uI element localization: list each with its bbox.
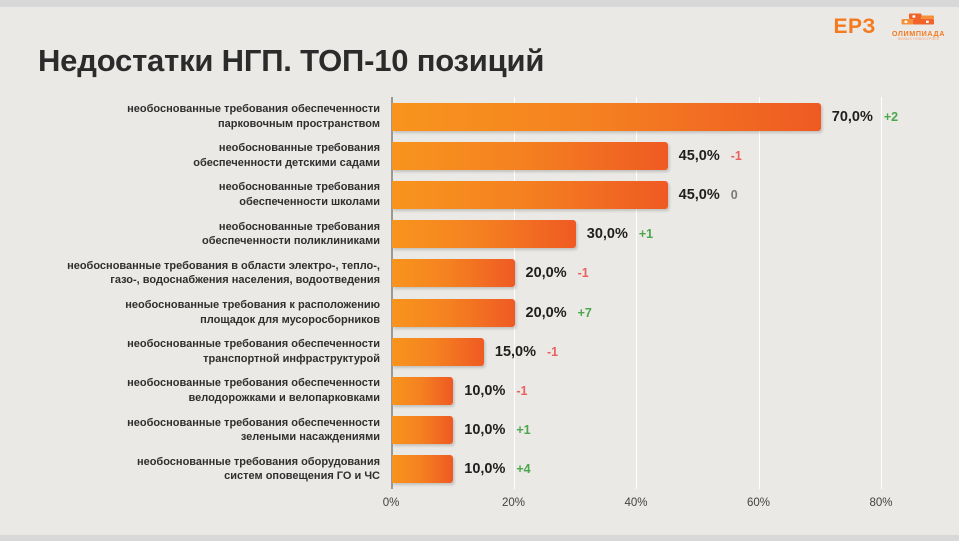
- bar-group: 20,0%+7: [392, 293, 592, 332]
- bottom-edge-band: [0, 535, 959, 541]
- bar[interactable]: [392, 416, 453, 444]
- delta-badge: -1: [578, 266, 589, 280]
- category-label: необоснованные требования к расположению…: [30, 298, 380, 327]
- bar-group: 10,0%-1: [392, 371, 528, 410]
- delta-badge: +4: [516, 462, 530, 476]
- bar[interactable]: [392, 455, 453, 483]
- top-edge-band: [0, 0, 959, 7]
- bar-value-label: 30,0%: [587, 226, 628, 242]
- bar-group: 45,0%-1: [392, 136, 742, 175]
- category-label: необоснованные требования обеспеченности…: [30, 141, 380, 170]
- category-label: необоснованные требования обеспеченности…: [30, 180, 380, 209]
- bar-value-label: 20,0%: [526, 305, 567, 321]
- bar-group: 70,0%+2: [392, 97, 898, 136]
- delta-badge: +1: [639, 227, 653, 241]
- x-tick-label: 60%: [747, 497, 770, 509]
- chart-row: необоснованные требования оборудования с…: [0, 450, 959, 489]
- chart-row: необоснованные требования к расположению…: [0, 293, 959, 332]
- category-label: необоснованные требования обеспеченности…: [30, 220, 380, 249]
- bar-value-label: 10,0%: [464, 383, 505, 399]
- olympiad-subtitle: ЖИЛЫХ НОВОСТРОЕК: [898, 38, 939, 41]
- delta-badge: +7: [578, 306, 592, 320]
- chart-row: необоснованные требования обеспеченности…: [0, 97, 959, 136]
- bar-value-label: 70,0%: [832, 109, 873, 125]
- bar-group: 15,0%-1: [392, 332, 558, 371]
- bar-group: 10,0%+1: [392, 411, 531, 450]
- bar-value-label: 15,0%: [495, 344, 536, 360]
- delta-badge: 0: [731, 188, 738, 202]
- category-label: необоснованные требования обеспеченности…: [30, 102, 380, 131]
- bar-value-label: 10,0%: [464, 422, 505, 438]
- slide-root: ЕРЗ ОЛИМПИАДА ЖИЛЫХ НОВОСТРОЕК Недостатк…: [0, 0, 959, 541]
- bar[interactable]: [392, 338, 484, 366]
- bar-value-label: 10,0%: [464, 461, 505, 477]
- chart-row: необоснованные требования обеспеченности…: [0, 215, 959, 254]
- bar[interactable]: [392, 220, 576, 248]
- category-label: необоснованные требования в области элек…: [30, 259, 380, 288]
- category-label: необоснованные требования обеспеченности…: [30, 337, 380, 366]
- bar[interactable]: [392, 142, 668, 170]
- delta-badge: +2: [884, 110, 898, 124]
- olympiad-logo: ОЛИМПИАДА ЖИЛЫХ НОВОСТРОЕК: [892, 12, 945, 42]
- chart-x-axis: 0%20%40%60%80%: [0, 489, 959, 517]
- x-tick-label: 80%: [869, 497, 892, 509]
- delta-badge: -1: [547, 345, 558, 359]
- erz-logo: ЕРЗ: [833, 16, 875, 37]
- bar-value-label: 45,0%: [679, 148, 720, 164]
- x-tick-label: 40%: [624, 497, 647, 509]
- bar-chart: необоснованные требования обеспеченности…: [0, 97, 959, 517]
- page-title: Недостатки НГП. ТОП-10 позиций: [38, 43, 544, 79]
- bar-value-label: 20,0%: [526, 265, 567, 281]
- x-tick-label: 0%: [383, 497, 400, 509]
- bar-group: 45,0%0: [392, 175, 738, 214]
- bar[interactable]: [392, 299, 515, 327]
- category-label: необоснованные требования обеспеченности…: [30, 376, 380, 405]
- bar[interactable]: [392, 103, 821, 131]
- chart-row: необоснованные требования обеспеченности…: [0, 332, 959, 371]
- category-label: необоснованные требования оборудования с…: [30, 455, 380, 484]
- bar[interactable]: [392, 259, 515, 287]
- chart-row: необоснованные требования в области элек…: [0, 254, 959, 293]
- bar-value-label: 45,0%: [679, 187, 720, 203]
- chart-row: необоснованные требования обеспеченности…: [0, 175, 959, 214]
- bar[interactable]: [392, 377, 453, 405]
- bar-group: 10,0%+4: [392, 450, 531, 489]
- chart-row: необоснованные требования обеспеченности…: [0, 136, 959, 175]
- podium-icon: [895, 12, 941, 29]
- x-tick-label: 20%: [502, 497, 525, 509]
- chart-row: необоснованные требования обеспеченности…: [0, 371, 959, 410]
- bar-group: 30,0%+1: [392, 215, 653, 254]
- delta-badge: +1: [516, 423, 530, 437]
- brand-block: ЕРЗ ОЛИМПИАДА ЖИЛЫХ НОВОСТРОЕК: [833, 12, 945, 42]
- category-label: необоснованные требования обеспеченности…: [30, 416, 380, 445]
- delta-badge: -1: [516, 384, 527, 398]
- olympiad-name: ОЛИМПИАДА: [892, 30, 945, 37]
- chart-row: необоснованные требования обеспеченности…: [0, 411, 959, 450]
- bar-group: 20,0%-1: [392, 254, 589, 293]
- bar[interactable]: [392, 181, 668, 209]
- delta-badge: -1: [731, 149, 742, 163]
